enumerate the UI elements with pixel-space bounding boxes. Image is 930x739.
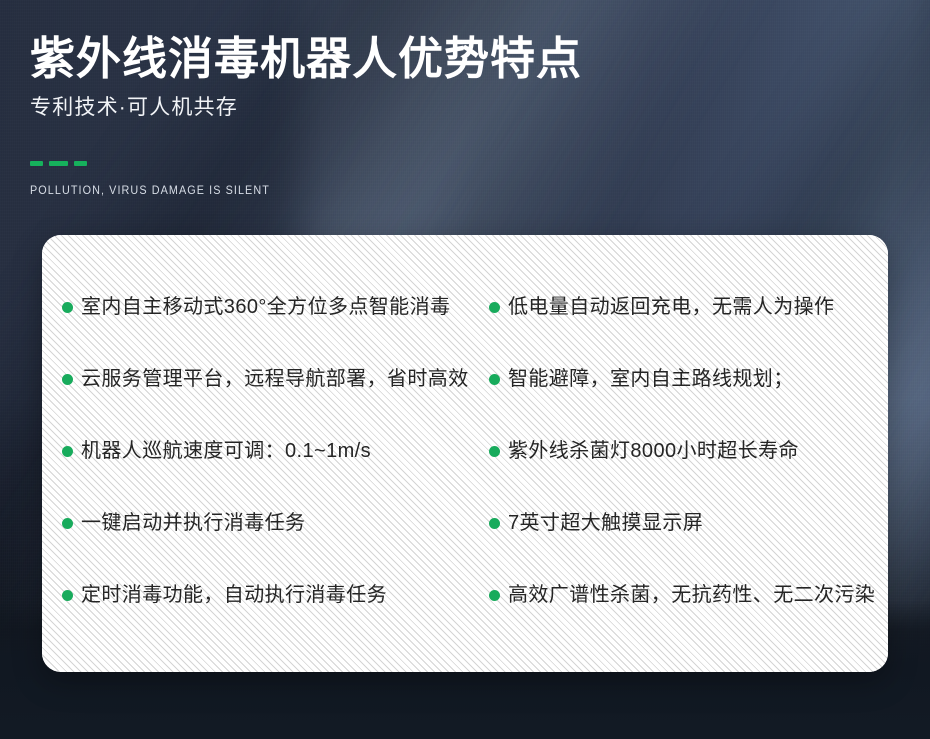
accent-dashes: [30, 161, 790, 166]
feature-item: 紫外线杀菌灯8000小时超长寿命: [489, 415, 888, 487]
green-dot-icon: [489, 374, 500, 385]
green-dot-icon: [489, 446, 500, 457]
feature-item: 智能避障，室内自主路线规划；: [489, 343, 888, 415]
green-dot-icon: [62, 374, 73, 385]
page-title: 紫外线消毒机器人优势特点: [30, 32, 790, 85]
feature-item: 室内自主移动式360°全方位多点智能消毒: [62, 271, 482, 343]
accent-dash-1: [30, 161, 43, 166]
eyebrow-tagline: POLLUTION, VIRUS DAMAGE IS SILENT: [30, 185, 744, 197]
feature-label: 机器人巡航速度可调：0.1~1m/s: [81, 438, 371, 465]
green-dot-icon: [62, 302, 73, 313]
feature-label: 一键启动并执行消毒任务: [81, 510, 305, 537]
green-dot-icon: [62, 590, 73, 601]
feature-item: 一键启动并执行消毒任务: [62, 487, 482, 559]
promo-page: 紫外线消毒机器人优势特点 专利技术·可人机共存 POLLUTION, VIRUS…: [0, 0, 930, 739]
feature-item: 云服务管理平台，远程导航部署，省时高效: [62, 343, 482, 415]
feature-card: 室内自主移动式360°全方位多点智能消毒 云服务管理平台，远程导航部署，省时高效…: [42, 235, 888, 672]
feature-item: 高效广谱性杀菌，无抗药性、无二次污染: [489, 559, 888, 631]
feature-item: 定时消毒功能，自动执行消毒任务: [62, 559, 482, 631]
hero-header: 紫外线消毒机器人优势特点 专利技术·可人机共存 POLLUTION, VIRUS…: [30, 32, 790, 197]
feature-item: 低电量自动返回充电，无需人为操作: [489, 271, 888, 343]
feature-label: 云服务管理平台，远程导航部署，省时高效: [81, 366, 469, 393]
feature-label: 室内自主移动式360°全方位多点智能消毒: [81, 294, 450, 321]
feature-label: 紫外线杀菌灯8000小时超长寿命: [508, 438, 799, 465]
feature-item: 7英寸超大触摸显示屏: [489, 487, 888, 559]
feature-label: 7英寸超大触摸显示屏: [508, 510, 703, 537]
accent-dash-2: [49, 161, 68, 166]
feature-column-left: 室内自主移动式360°全方位多点智能消毒 云服务管理平台，远程导航部署，省时高效…: [62, 271, 482, 631]
feature-label: 低电量自动返回充电，无需人为操作: [508, 294, 834, 321]
feature-item: 机器人巡航速度可调：0.1~1m/s: [62, 415, 482, 487]
feature-label: 高效广谱性杀菌，无抗药性、无二次污染: [508, 582, 875, 609]
green-dot-icon: [489, 518, 500, 529]
green-dot-icon: [489, 302, 500, 313]
page-subtitle: 专利技术·可人机共存: [30, 94, 790, 121]
green-dot-icon: [62, 446, 73, 457]
feature-label: 智能避障，室内自主路线规划；: [508, 366, 794, 393]
green-dot-icon: [62, 518, 73, 529]
green-dot-icon: [489, 590, 500, 601]
feature-column-right: 低电量自动返回充电，无需人为操作 智能避障，室内自主路线规划； 紫外线杀菌灯80…: [489, 271, 888, 631]
accent-dash-3: [74, 161, 87, 166]
feature-label: 定时消毒功能，自动执行消毒任务: [81, 582, 387, 609]
